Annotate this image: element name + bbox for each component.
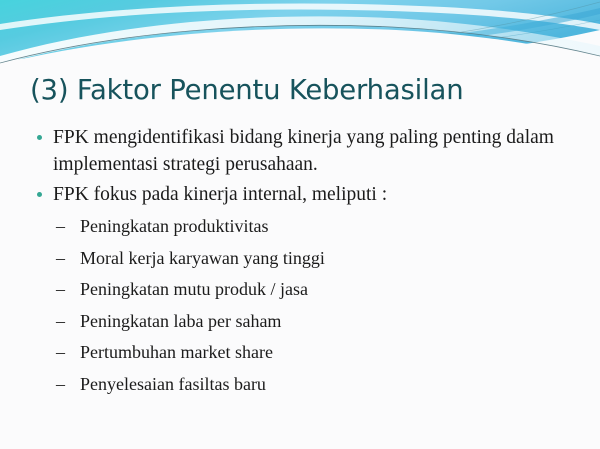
sub-bullet-text: Penyelesaian fasiltas baru (80, 374, 266, 394)
slide-body: FPK mengidentifikasi bidang kinerja yang… (0, 124, 600, 401)
bullet-text: FPK fokus pada kinerja internal, meliput… (53, 184, 387, 205)
header-wave-decoration (0, 0, 600, 78)
bullet-dot-icon (32, 181, 46, 208)
sub-bullet-text: Peningkatan produktivitas (80, 216, 268, 236)
sub-bullet-text: Moral kerja karyawan yang tinggi (80, 248, 325, 268)
sub-bullet-text: Peningkatan mutu produk / jasa (80, 279, 308, 299)
dash-marker-icon: – (56, 275, 72, 304)
sub-bullet-text: Peningkatan laba per saham (80, 311, 281, 331)
sub-bullet-item: – Penyelesaian fasiltas baru (56, 370, 600, 399)
sub-bullet-item: – Pertumbuhan market share (56, 338, 600, 367)
dash-marker-icon: – (56, 370, 72, 399)
bullet-dot-icon (32, 124, 46, 151)
sub-bullet-group: – Peningkatan produktivitas – Moral kerj… (30, 212, 600, 398)
dash-marker-icon: – (56, 338, 72, 367)
dash-marker-icon: – (56, 244, 72, 273)
bullet-item: FPK fokus pada kinerja internal, meliput… (22, 181, 566, 208)
sub-bullet-item: – Moral kerja karyawan yang tinggi (56, 244, 600, 273)
sub-bullet-item: – Peningkatan laba per saham (56, 307, 600, 336)
presentation-slide: (3) Faktor Penentu Keberhasilan FPK meng… (0, 0, 600, 449)
sub-bullet-item: – Peningkatan mutu produk / jasa (56, 275, 600, 304)
sub-bullet-text: Pertumbuhan market share (80, 342, 273, 362)
dash-marker-icon: – (56, 307, 72, 336)
dash-marker-icon: – (56, 212, 72, 241)
bullet-item: FPK mengidentifikasi bidang kinerja yang… (22, 124, 566, 178)
bullet-text: FPK mengidentifikasi bidang kinerja yang… (53, 127, 554, 175)
sub-bullet-item: – Peningkatan produktivitas (56, 212, 600, 241)
bullet-list-level2: – Peningkatan produktivitas – Moral kerj… (30, 212, 600, 398)
bullet-list-level1: FPK mengidentifikasi bidang kinerja yang… (0, 124, 600, 208)
slide-title: (3) Faktor Penentu Keberhasilan (30, 74, 575, 106)
